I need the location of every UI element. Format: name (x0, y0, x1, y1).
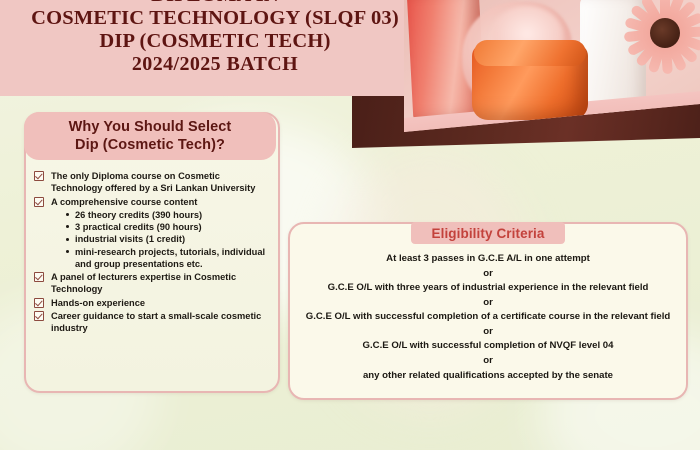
checkbox-checked-icon (34, 272, 44, 282)
eligibility-criterion: At least 3 passes in G.C.E A/L in one at… (298, 252, 678, 267)
why-select-list: The only Diploma course on Cosmetic Tech… (34, 170, 270, 334)
why-select-subitem: industrial visits (1 credit) (65, 233, 270, 245)
gerbera-flower-icon (618, 0, 700, 80)
why-select-item-label: A comprehensive course content (51, 197, 197, 207)
why-select-item-label: A panel of lecturers expertise in Cosmet… (51, 272, 236, 294)
why-select-subitem: 26 theory credits (390 hours) (65, 209, 270, 221)
eligibility-title-pill: Eligibility Criteria (411, 222, 565, 244)
why-select-subitem: 3 practical credits (90 hours) (65, 221, 270, 233)
eligibility-criteria-card: Eligibility Criteria At least 3 passes i… (288, 222, 688, 400)
eligibility-criterion: G.C.E O/L with successful completion of … (298, 339, 678, 354)
why-select-item: Career guidance to start a small-scale c… (34, 310, 270, 335)
eligibility-separator: or (298, 354, 678, 369)
why-select-subitem: mini-research projects, tutorials, indiv… (65, 246, 270, 271)
why-select-item-label: Hands-on experience (51, 298, 145, 308)
checkbox-checked-icon (34, 311, 44, 321)
checkbox-checked-icon (34, 171, 44, 181)
eligibility-separator: or (298, 296, 678, 311)
eligibility-criterion: any other related qualifications accepte… (298, 369, 678, 384)
title-line-3: DIP (COSMETIC TECH) (0, 30, 430, 53)
checkbox-checked-icon (34, 197, 44, 207)
eligibility-criterion: G.C.E O/L with three years of industrial… (298, 281, 678, 296)
eligibility-criteria-list: At least 3 passes in G.C.E A/L in one at… (298, 252, 678, 383)
eligibility-criterion: G.C.E O/L with successful completion of … (298, 310, 678, 325)
eligibility-separator: or (298, 267, 678, 282)
poster-title: DIPLOMA IN COSMETIC TECHNOLOGY (SLQF 03)… (0, 0, 430, 75)
why-title-line-2: Dip (Cosmetic Tech)? (75, 136, 225, 154)
title-line-1: DIPLOMA IN (0, 0, 430, 7)
title-line-2: COSMETIC TECHNOLOGY (SLQF 03) (0, 7, 430, 30)
title-line-4: 2024/2025 BATCH (0, 53, 430, 75)
why-select-item-label: The only Diploma course on Cosmetic Tech… (51, 171, 255, 193)
why-title-line-1: Why You Should Select (69, 118, 232, 136)
eligibility-separator: or (298, 325, 678, 340)
why-select-sublist: 26 theory credits (390 hours)3 practical… (51, 209, 270, 270)
why-select-item: A panel of lecturers expertise in Cosmet… (34, 271, 270, 296)
why-select-card-header: Why You Should Select Dip (Cosmetic Tech… (24, 112, 276, 160)
why-select-item: The only Diploma course on Cosmetic Tech… (34, 170, 270, 195)
why-select-item: Hands-on experience (34, 297, 270, 309)
why-select-card: Why You Should Select Dip (Cosmetic Tech… (24, 112, 280, 393)
why-select-card-body: The only Diploma course on Cosmetic Tech… (26, 164, 278, 335)
why-select-item: A comprehensive course content26 theory … (34, 196, 270, 271)
poster-root: DIPLOMA IN COSMETIC TECHNOLOGY (SLQF 03)… (0, 0, 700, 450)
eligibility-title: Eligibility Criteria (431, 226, 544, 241)
why-select-item-label: Career guidance to start a small-scale c… (51, 311, 261, 333)
orange-jar-lid-icon (474, 40, 586, 66)
checkbox-checked-icon (34, 298, 44, 308)
